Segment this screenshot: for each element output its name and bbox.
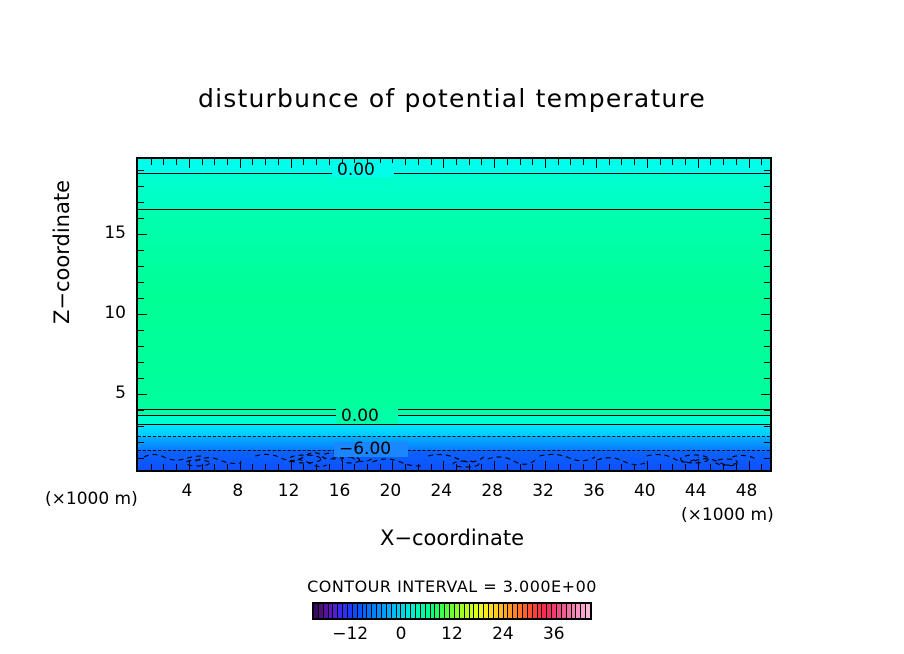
x-tick-29-bottom bbox=[507, 464, 508, 470]
x-tick-39-top bbox=[634, 159, 635, 165]
x-tick-37-top bbox=[609, 159, 610, 165]
y-tick-15-left bbox=[138, 234, 147, 235]
x-tick-11-bottom bbox=[278, 464, 279, 470]
x-tick-label-32: 32 bbox=[523, 481, 563, 501]
x-tick-40-bottom bbox=[647, 461, 648, 470]
x-tick-13-top bbox=[303, 159, 304, 165]
y-tick-7-left bbox=[138, 362, 144, 363]
x-tick-49-bottom bbox=[761, 464, 762, 470]
x-tick-13-bottom bbox=[303, 464, 304, 470]
x-tick-10-top bbox=[265, 159, 266, 165]
contour-plot-area: 0.00 0.00 −6.00 bbox=[136, 157, 772, 472]
x-tick-33-bottom bbox=[558, 464, 559, 470]
x-tick-25-bottom bbox=[456, 464, 457, 470]
y-tick-13-right bbox=[764, 266, 770, 267]
x-tick-8-bottom bbox=[240, 461, 241, 470]
y-tick-9-right bbox=[764, 330, 770, 331]
y-tick-16-right bbox=[764, 218, 770, 219]
x-tick-21-bottom bbox=[405, 464, 406, 470]
y-tick-17-left bbox=[138, 202, 144, 203]
y-tick-18-right bbox=[764, 186, 770, 187]
y-tick-4-left bbox=[138, 410, 144, 411]
y-tick-11-right bbox=[764, 298, 770, 299]
x-tick-label-8: 8 bbox=[218, 481, 258, 501]
x-tick-9-bottom bbox=[252, 464, 253, 470]
x-tick-22-bottom bbox=[418, 464, 419, 470]
contour-label-zero-lower: 0.00 bbox=[338, 408, 382, 425]
y-tick-label-15: 15 bbox=[96, 223, 126, 243]
y-tick-3-right bbox=[764, 426, 770, 427]
y-tick-12-right bbox=[764, 282, 770, 283]
x-tick-40-top bbox=[647, 159, 648, 168]
x-tick-label-16: 16 bbox=[320, 481, 360, 501]
x-tick-22-top bbox=[418, 159, 419, 165]
x-tick-27-bottom bbox=[481, 464, 482, 470]
x-tick-label-20: 20 bbox=[370, 481, 410, 501]
x-tick-19-bottom bbox=[380, 464, 381, 470]
x-axis-unit-label: (×1000 m) bbox=[681, 505, 774, 525]
x-tick-12-bottom bbox=[291, 461, 292, 470]
x-tick-6-bottom bbox=[214, 464, 215, 470]
y-axis-label: Z−coordinate bbox=[50, 142, 74, 362]
x-tick-32-bottom bbox=[545, 461, 546, 470]
contour-squiggles bbox=[138, 450, 770, 472]
x-tick-3-bottom bbox=[176, 464, 177, 470]
x-tick-label-4: 4 bbox=[167, 481, 207, 501]
x-tick-35-top bbox=[583, 159, 584, 165]
contour-label-neg-six: −6.00 bbox=[336, 441, 394, 458]
x-tick-8-top bbox=[240, 159, 241, 168]
y-tick-4-right bbox=[764, 410, 770, 411]
x-tick-label-44: 44 bbox=[676, 481, 716, 501]
x-tick-48-top bbox=[749, 159, 750, 168]
x-tick-15-top bbox=[329, 159, 330, 165]
x-tick-11-top bbox=[278, 159, 279, 165]
x-tick-39-bottom bbox=[634, 464, 635, 470]
x-tick-14-top bbox=[316, 159, 317, 165]
y-tick-6-right bbox=[764, 378, 770, 379]
x-tick-30-top bbox=[520, 159, 521, 165]
x-tick-38-top bbox=[621, 159, 622, 165]
page-title: disturbunce of potential temperature bbox=[0, 84, 904, 113]
y-tick-8-left bbox=[138, 346, 144, 347]
x-tick-label-48: 48 bbox=[727, 481, 767, 501]
x-tick-label-12: 12 bbox=[269, 481, 309, 501]
y-tick-label-10: 10 bbox=[96, 303, 126, 323]
contour-line-zero-upper bbox=[138, 173, 770, 174]
colorbar bbox=[312, 602, 592, 620]
x-tick-41-bottom bbox=[660, 464, 661, 470]
y-tick-16-left bbox=[138, 218, 144, 219]
x-tick-20-bottom bbox=[392, 461, 393, 470]
x-tick-41-top bbox=[660, 159, 661, 165]
colorbar-tick-label-2: 12 bbox=[429, 624, 475, 644]
x-tick-47-bottom bbox=[736, 464, 737, 470]
x-tick-10-bottom bbox=[265, 464, 266, 470]
y-tick-2-left bbox=[138, 442, 144, 443]
x-tick-16-bottom bbox=[342, 461, 343, 470]
x-tick-2-bottom bbox=[163, 464, 164, 470]
x-tick-45-bottom bbox=[710, 464, 711, 470]
y-tick-1-right bbox=[764, 458, 770, 459]
y-tick-13-left bbox=[138, 266, 144, 267]
y-tick-17-right bbox=[764, 202, 770, 203]
x-tick-label-24: 24 bbox=[421, 481, 461, 501]
x-tick-43-bottom bbox=[685, 464, 686, 470]
fill-band-lower-teal bbox=[138, 415, 770, 424]
x-tick-47-top bbox=[736, 159, 737, 165]
x-tick-23-top bbox=[431, 159, 432, 165]
contour-line-solid-lower-1 bbox=[138, 409, 770, 410]
x-tick-49-top bbox=[761, 159, 762, 165]
y-tick-14-right bbox=[764, 250, 770, 251]
fill-band-interior-green bbox=[138, 209, 770, 409]
x-tick-44-top bbox=[698, 159, 699, 168]
x-tick-15-bottom bbox=[329, 464, 330, 470]
contour-line-zero-lower bbox=[138, 415, 770, 416]
x-tick-label-28: 28 bbox=[472, 481, 512, 501]
x-tick-1-bottom bbox=[151, 464, 152, 470]
fill-band-upper-cyan-strip bbox=[138, 159, 770, 173]
y-tick-10-left bbox=[138, 314, 147, 315]
x-tick-12-top bbox=[291, 159, 292, 168]
x-tick-23-bottom bbox=[431, 464, 432, 470]
x-tick-26-bottom bbox=[469, 464, 470, 470]
x-tick-5-top bbox=[202, 159, 203, 165]
y-tick-19-right bbox=[764, 170, 770, 171]
x-tick-33-top bbox=[558, 159, 559, 165]
x-tick-46-top bbox=[723, 159, 724, 165]
x-tick-24-bottom bbox=[443, 461, 444, 470]
x-tick-35-bottom bbox=[583, 464, 584, 470]
x-tick-28-bottom bbox=[494, 461, 495, 470]
x-tick-26-top bbox=[469, 159, 470, 165]
y-tick-11-left bbox=[138, 298, 144, 299]
x-tick-31-top bbox=[532, 159, 533, 165]
x-tick-17-bottom bbox=[354, 464, 355, 470]
x-tick-36-top bbox=[596, 159, 597, 168]
y-tick-3-left bbox=[138, 426, 144, 427]
contour-interval-caption: CONTOUR INTERVAL = 3.000E+00 bbox=[0, 577, 904, 596]
contour-line-dashed-neg-3 bbox=[138, 436, 770, 437]
x-tick-21-top bbox=[405, 159, 406, 165]
y-tick-2-right bbox=[764, 442, 770, 443]
x-tick-34-top bbox=[570, 159, 571, 165]
fill-band-lower-lightblue bbox=[138, 436, 770, 450]
fill-band-upper-cyan bbox=[138, 173, 770, 209]
x-tick-2-top bbox=[163, 159, 164, 165]
x-tick-28-top bbox=[494, 159, 495, 168]
x-tick-29-top bbox=[507, 159, 508, 165]
x-tick-5-bottom bbox=[202, 464, 203, 470]
x-tick-45-top bbox=[710, 159, 711, 165]
x-tick-48-bottom bbox=[749, 461, 750, 470]
contour-label-zero-top: 0.00 bbox=[334, 162, 378, 179]
contour-line-solid-upper-2 bbox=[138, 209, 770, 210]
y-tick-8-right bbox=[764, 346, 770, 347]
colorbar-tick-label-0: −12 bbox=[327, 624, 373, 644]
x-tick-14-bottom bbox=[316, 464, 317, 470]
x-tick-7-bottom bbox=[227, 464, 228, 470]
y-tick-10-right bbox=[761, 314, 770, 315]
x-tick-30-bottom bbox=[520, 464, 521, 470]
x-tick-42-bottom bbox=[672, 464, 673, 470]
x-tick-38-bottom bbox=[621, 464, 622, 470]
y-tick-7-right bbox=[764, 362, 770, 363]
y-axis-unit-label: (×1000 m) bbox=[45, 489, 138, 509]
x-tick-9-top bbox=[252, 159, 253, 165]
x-axis-label: X−coordinate bbox=[0, 526, 904, 550]
x-tick-label-36: 36 bbox=[574, 481, 614, 501]
contour-line-solid-lower-3 bbox=[138, 424, 770, 425]
x-tick-label-40: 40 bbox=[625, 481, 665, 501]
y-tick-5-left bbox=[138, 394, 147, 395]
y-tick-15-right bbox=[761, 234, 770, 235]
x-tick-6-top bbox=[214, 159, 215, 165]
x-tick-46-bottom bbox=[723, 464, 724, 470]
y-tick-12-left bbox=[138, 282, 144, 283]
x-tick-36-bottom bbox=[596, 461, 597, 470]
x-tick-27-top bbox=[481, 159, 482, 165]
x-tick-34-bottom bbox=[570, 464, 571, 470]
x-tick-3-top bbox=[176, 159, 177, 165]
x-tick-1-top bbox=[151, 159, 152, 165]
y-tick-5-right bbox=[761, 394, 770, 395]
x-tick-4-bottom bbox=[189, 461, 190, 470]
x-tick-31-bottom bbox=[532, 464, 533, 470]
y-tick-18-left bbox=[138, 186, 144, 187]
colorbar-swatch-56 bbox=[586, 604, 590, 618]
colorbar-tick-label-3: 24 bbox=[480, 624, 526, 644]
x-tick-4-top bbox=[189, 159, 190, 168]
x-tick-32-top bbox=[545, 159, 546, 168]
y-tick-1-left bbox=[138, 458, 144, 459]
y-tick-label-5: 5 bbox=[96, 383, 126, 403]
x-tick-18-bottom bbox=[367, 464, 368, 470]
y-tick-14-left bbox=[138, 250, 144, 251]
x-tick-42-top bbox=[672, 159, 673, 165]
colorbar-tick-label-4: 36 bbox=[531, 624, 577, 644]
x-tick-24-top bbox=[443, 159, 444, 168]
fill-band-lower-cyan bbox=[138, 424, 770, 436]
y-tick-9-left bbox=[138, 330, 144, 331]
x-tick-37-bottom bbox=[609, 464, 610, 470]
x-tick-25-top bbox=[456, 159, 457, 165]
x-tick-7-top bbox=[227, 159, 228, 165]
x-tick-44-bottom bbox=[698, 461, 699, 470]
colorbar-tick-label-1: 0 bbox=[378, 624, 424, 644]
x-tick-43-top bbox=[685, 159, 686, 165]
y-tick-6-left bbox=[138, 378, 144, 379]
y-tick-19-left bbox=[138, 170, 144, 171]
